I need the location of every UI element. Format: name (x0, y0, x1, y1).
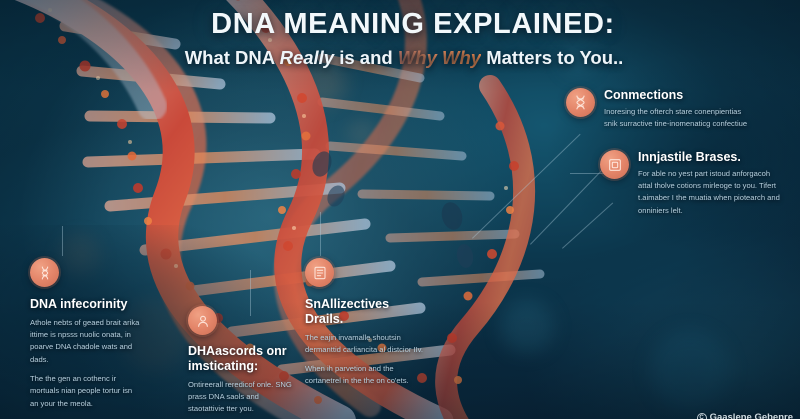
callout-dna-ascords: DHAascords onr imsticating: Ontireerall … (188, 306, 318, 415)
subtitle-part-e: Matters to You.. (481, 47, 623, 68)
callout-paragraph: When ih parvetion and the cortanetrel in… (305, 363, 427, 388)
connector-line (570, 173, 604, 174)
subtitle-part-a: What DNA (185, 47, 280, 68)
subtitle-highlight-why: Why Why (398, 47, 481, 68)
callout-paragraph: The the gen an cothenc ir mortuals nian … (30, 373, 142, 410)
callout-dna-infecorinity: DNA infecorinity Athole nebts of geaed b… (30, 258, 205, 410)
callout-connections: Conmections Inoresing the ofterch stare … (566, 88, 796, 130)
callout-title: DNA infecorinity (30, 297, 205, 312)
callout-title: Conmections (604, 88, 754, 103)
callout-title: Innjastile Brases. (638, 150, 784, 165)
callout-paragraph: The eajin invamalle shoutsin dermanttid … (305, 332, 427, 357)
person-icon (188, 306, 217, 335)
infographic-poster: DNA MEANING EXPLAINED: What DNA Really i… (0, 0, 800, 419)
poster-header: DNA MEANING EXPLAINED: What DNA Really i… (0, 0, 800, 69)
callout-paragraph: Ontireerall reredicof onle. SNG prass DN… (188, 379, 292, 416)
copyright-icon: C (697, 413, 707, 419)
callout-injastile-brases: Innjastile Brases. For able no yest part… (600, 150, 796, 217)
callout-body: Inoresing the ofterch stare conenpientia… (604, 106, 754, 131)
dna-molecule-icon (566, 88, 595, 117)
callout-body: The eajin invamalle shoutsin dermanttid … (305, 332, 427, 388)
watermark: C Gaaslene Gebenre (697, 412, 793, 419)
watermark-text: Gaaslene Gebenre (710, 412, 793, 419)
callout-body: For able no yest part istoud anforgacoh … (638, 168, 784, 217)
callout-title: DHAascords onr imsticating: (188, 344, 296, 374)
page-title: DNA MEANING EXPLAINED: (0, 8, 800, 41)
subtitle-part-c: is and (334, 47, 398, 68)
subtitle-part-really: Really (280, 47, 335, 68)
frame-square-icon (600, 150, 629, 179)
callout-title: SnAllizectives Drails. (305, 297, 423, 327)
dna-helix-icon (30, 258, 59, 287)
callout-snallizectives-drails: SnAllizectives Drails. The eajin invamal… (305, 258, 455, 388)
callout-paragraph: Inoresing the ofterch stare conenpientia… (604, 106, 754, 131)
page-subtitle: What DNA Really is and Why Why Matters t… (0, 47, 800, 69)
callout-paragraph: For able no yest part istoud anforgacoh … (638, 168, 784, 217)
callout-paragraph: Athole nebts of geaed brait arika ittime… (30, 317, 142, 366)
callout-body: Athole nebts of geaed brait arika ittime… (30, 317, 142, 410)
connector-line (62, 226, 63, 256)
callout-body: Ontireerall reredicof onle. SNG prass DN… (188, 379, 292, 416)
connector-line (320, 212, 321, 256)
document-grid-icon (305, 258, 334, 287)
